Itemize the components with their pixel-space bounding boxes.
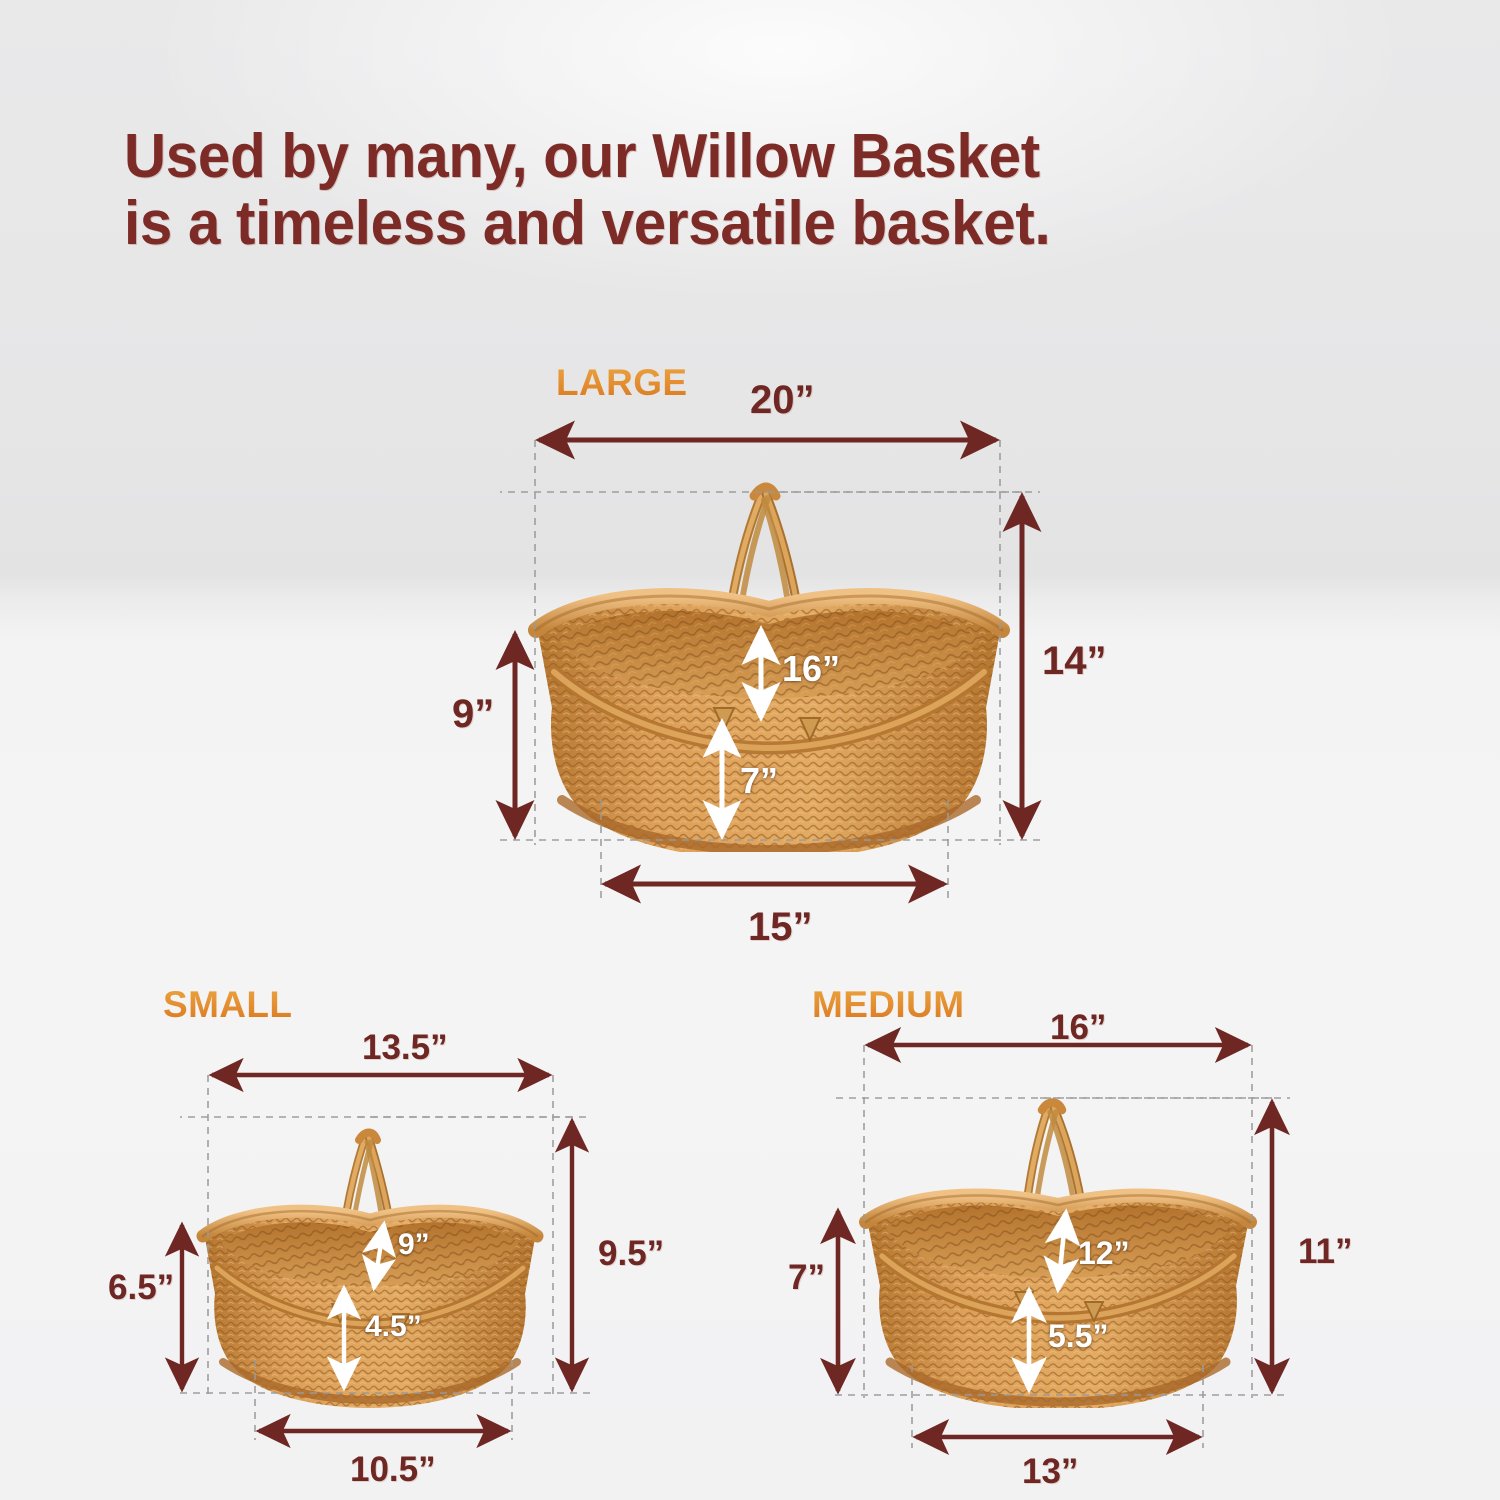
- size-label-large: LARGE: [556, 362, 688, 404]
- headline-line-1: Used by many, our Willow Basket: [124, 122, 1040, 191]
- infographic-canvas: Used by many, our Willow Basket is a tim…: [0, 0, 1500, 1500]
- dim-large-interior-depth: 7”: [740, 760, 778, 802]
- dim-small-handle-height: 9”: [398, 1228, 430, 1262]
- dim-medium-basket-height: 7”: [788, 1258, 825, 1298]
- dim-small-overall-width: 13.5”: [362, 1028, 448, 1068]
- dim-small-base-width: 10.5”: [350, 1450, 436, 1490]
- dim-small-overall-height: 9.5”: [598, 1234, 664, 1274]
- basket-image-small: [195, 1120, 545, 1410]
- dim-medium-overall-height: 11”: [1298, 1232, 1353, 1272]
- dim-medium-overall-width: 16”: [1050, 1008, 1106, 1048]
- dim-large-overall-width: 20”: [750, 378, 815, 423]
- dim-small-basket-height: 6.5”: [108, 1268, 174, 1308]
- size-label-small: SMALL: [163, 984, 292, 1026]
- dim-medium-handle-height: 12”: [1078, 1235, 1130, 1272]
- page-title: Used by many, our Willow Basket is a tim…: [124, 124, 1346, 258]
- dim-medium-interior-depth: 5.5”: [1048, 1318, 1108, 1355]
- headline-line-2: is a timeless and versatile basket.: [124, 191, 1346, 258]
- dim-large-basket-height: 9”: [452, 692, 494, 737]
- dim-large-overall-height: 14”: [1042, 639, 1107, 684]
- size-label-medium: MEDIUM: [812, 984, 964, 1026]
- dim-large-base-width: 15”: [748, 905, 813, 950]
- dim-small-interior-depth: 4.5”: [365, 1310, 422, 1344]
- basket-image-medium: [858, 1098, 1258, 1408]
- dim-medium-base-width: 13”: [1022, 1452, 1078, 1492]
- dim-large-handle-height: 16”: [782, 648, 840, 690]
